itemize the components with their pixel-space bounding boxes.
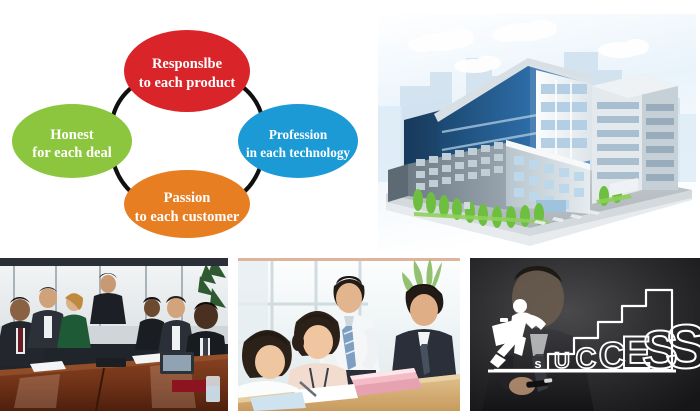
value-node-passion-line2: to each customer xyxy=(135,209,240,225)
value-node-responsible: Responslbe to each product xyxy=(124,30,250,112)
value-node-honest: Honest for each deal xyxy=(12,104,132,178)
success-letter-u: U xyxy=(554,348,570,373)
value-node-passion: Passion to each customer xyxy=(124,170,250,238)
value-node-passion-line1: Passion xyxy=(164,190,211,206)
value-node-honest-line2: for each deal xyxy=(32,145,111,161)
photo-success-stairs: s U C C E S S xyxy=(470,258,700,411)
photo-team-discussion xyxy=(238,258,460,411)
value-node-honest-line1: Honest xyxy=(50,127,94,143)
water-glass xyxy=(206,376,220,402)
value-node-profession: Profession in each technology xyxy=(238,104,358,178)
value-node-responsible-line2: to each product xyxy=(139,75,236,91)
collage-page: Honest for each deal Responslbe to each … xyxy=(0,0,700,411)
value-node-profession-line2: in each technology xyxy=(246,145,350,160)
table-document xyxy=(96,358,126,367)
value-node-responsible-line1: Responslbe xyxy=(152,56,223,72)
core-values-cycle-diagram: Honest for each deal Responslbe to each … xyxy=(0,0,375,250)
value-node-profession-line1: Profession xyxy=(269,127,328,142)
office-building-illustration xyxy=(378,14,696,250)
photo-boardroom-meeting xyxy=(0,258,228,411)
success-letter-s1: s xyxy=(534,356,541,371)
photo-strip: s U C C E S S xyxy=(0,258,700,411)
